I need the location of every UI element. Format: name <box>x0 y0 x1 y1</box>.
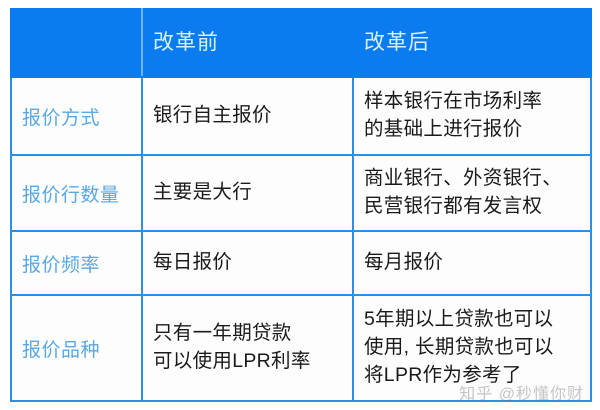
table-header-row: 改革前 改革后 <box>11 9 591 77</box>
table-container: 改革前 改革后 报价方式 银行自主报价 样本银行在市场利率 的基础 <box>10 8 590 400</box>
comparison-table-page: 改革前 改革后 报价方式 银行自主报价 样本银行在市场利率 的基础 <box>0 0 600 410</box>
cell-line: 商业银行、外资银行、 <box>364 165 580 193</box>
cell-line: 银行自主报价 <box>153 102 342 130</box>
cell-line: 每月报价 <box>364 249 580 277</box>
cell-after-row3: 每月报价 <box>353 231 591 295</box>
row-label-baojia-pinzhong: 报价品种 <box>11 295 142 401</box>
header-cell-before: 改革前 <box>142 9 353 77</box>
header-label-after: 改革后 <box>364 31 430 54</box>
row-label-baojia-pinlv: 报价频率 <box>11 231 142 295</box>
cell-line: 每日报价 <box>153 249 342 277</box>
cell-line: 只有一年期贷款 <box>153 320 342 348</box>
header-label-before: 改革前 <box>153 31 219 54</box>
row-label-text: 报价方式 <box>22 108 100 129</box>
row-label-text: 报价行数量 <box>22 185 120 206</box>
cell-before-row1: 银行自主报价 <box>142 77 353 155</box>
cell-line: 样本银行在市场利率 <box>364 88 580 116</box>
cell-after-row2: 商业银行、外资银行、 民营银行都有发言权 <box>353 155 591 231</box>
cell-after-row1: 样本银行在市场利率 的基础上进行报价 <box>353 77 591 155</box>
header-corner-cell <box>11 9 142 77</box>
table-row: 报价方式 银行自主报价 样本银行在市场利率 的基础上进行报价 <box>11 77 591 155</box>
cell-line: 使用, 长期贷款也可以 <box>364 334 580 362</box>
table-row: 报价品种 只有一年期贷款 可以使用LPR利率 5年期以上贷款也可以 使用, 长期… <box>11 295 591 401</box>
cell-after-row4: 5年期以上贷款也可以 使用, 长期贷款也可以 将LPR作为参考了 <box>353 295 591 401</box>
row-label-text: 报价品种 <box>22 340 100 361</box>
table-row: 报价频率 每日报价 每月报价 <box>11 231 591 295</box>
cell-line: 将LPR作为参考了 <box>364 362 580 390</box>
cell-line: 5年期以上贷款也可以 <box>364 306 580 334</box>
cell-line: 可以使用LPR利率 <box>153 348 342 376</box>
header-cell-after: 改革后 <box>353 9 591 77</box>
row-label-baojia-fangshi: 报价方式 <box>11 77 142 155</box>
cell-before-row4: 只有一年期贷款 可以使用LPR利率 <box>142 295 353 401</box>
cell-before-row2: 主要是大行 <box>142 155 353 231</box>
cell-line: 主要是大行 <box>153 179 342 207</box>
row-label-text: 报价频率 <box>22 255 100 276</box>
table-row: 报价行数量 主要是大行 商业银行、外资银行、 民营银行都有发言权 <box>11 155 591 231</box>
cell-line: 民营银行都有发言权 <box>364 193 580 221</box>
cell-before-row3: 每日报价 <box>142 231 353 295</box>
row-label-baojia-hang-shuliang: 报价行数量 <box>11 155 142 231</box>
lpr-comparison-table: 改革前 改革后 报价方式 银行自主报价 样本银行在市场利率 的基础 <box>10 8 592 402</box>
cell-line: 的基础上进行报价 <box>364 116 580 144</box>
